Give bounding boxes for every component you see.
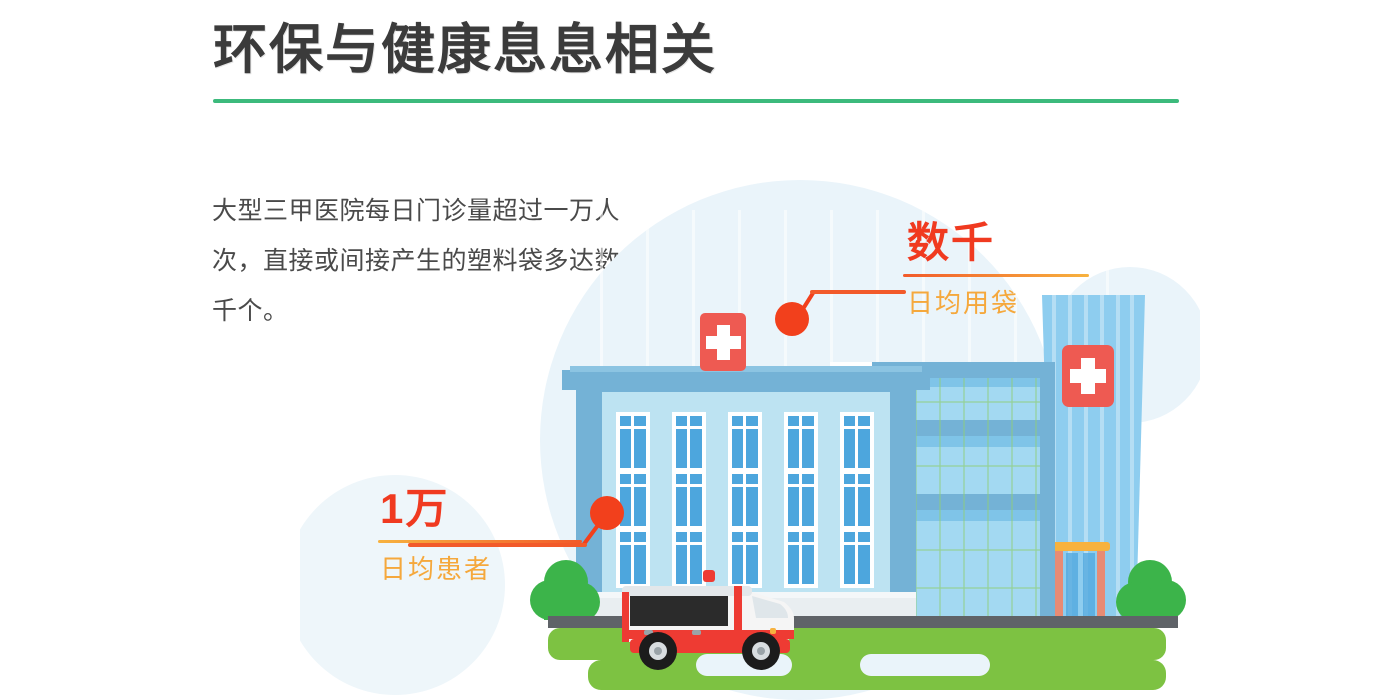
window	[784, 528, 818, 588]
window	[728, 470, 762, 530]
callout-bags-label: 日均用袋	[907, 283, 1089, 320]
callout-bags: 数千 日均用袋	[903, 222, 1089, 320]
title-block: 环保与健康息息相关	[213, 22, 1193, 103]
wheel-rear	[639, 632, 677, 670]
callout-patients: 1万 日均患者	[378, 488, 582, 586]
title-underline-rule	[213, 99, 1179, 103]
window	[784, 412, 818, 472]
red-cross-sign-roof	[700, 313, 746, 371]
window	[840, 412, 874, 472]
hospital-tower	[1042, 295, 1145, 620]
callout-patients-label: 日均患者	[380, 549, 582, 586]
callout-dot-patients	[590, 496, 624, 530]
window	[616, 528, 650, 588]
callout-bags-rule	[903, 274, 1089, 277]
window	[672, 528, 706, 588]
page-title: 环保与健康息息相关	[213, 22, 1193, 79]
window	[728, 528, 762, 588]
wheel-front	[742, 632, 780, 670]
callout-patients-rule	[378, 540, 582, 543]
window	[840, 528, 874, 588]
window	[672, 412, 706, 472]
window	[616, 412, 650, 472]
window	[672, 470, 706, 530]
callout-bags-value: 数千	[907, 222, 1089, 264]
callout-patients-value: 1万	[380, 488, 582, 530]
window	[784, 470, 818, 530]
road-marking	[860, 654, 990, 676]
window	[728, 412, 762, 472]
red-cross-sign-tower	[1062, 345, 1114, 407]
window	[840, 470, 874, 530]
callout-dot-bags	[775, 302, 809, 336]
hospital-illustration	[300, 130, 1200, 700]
